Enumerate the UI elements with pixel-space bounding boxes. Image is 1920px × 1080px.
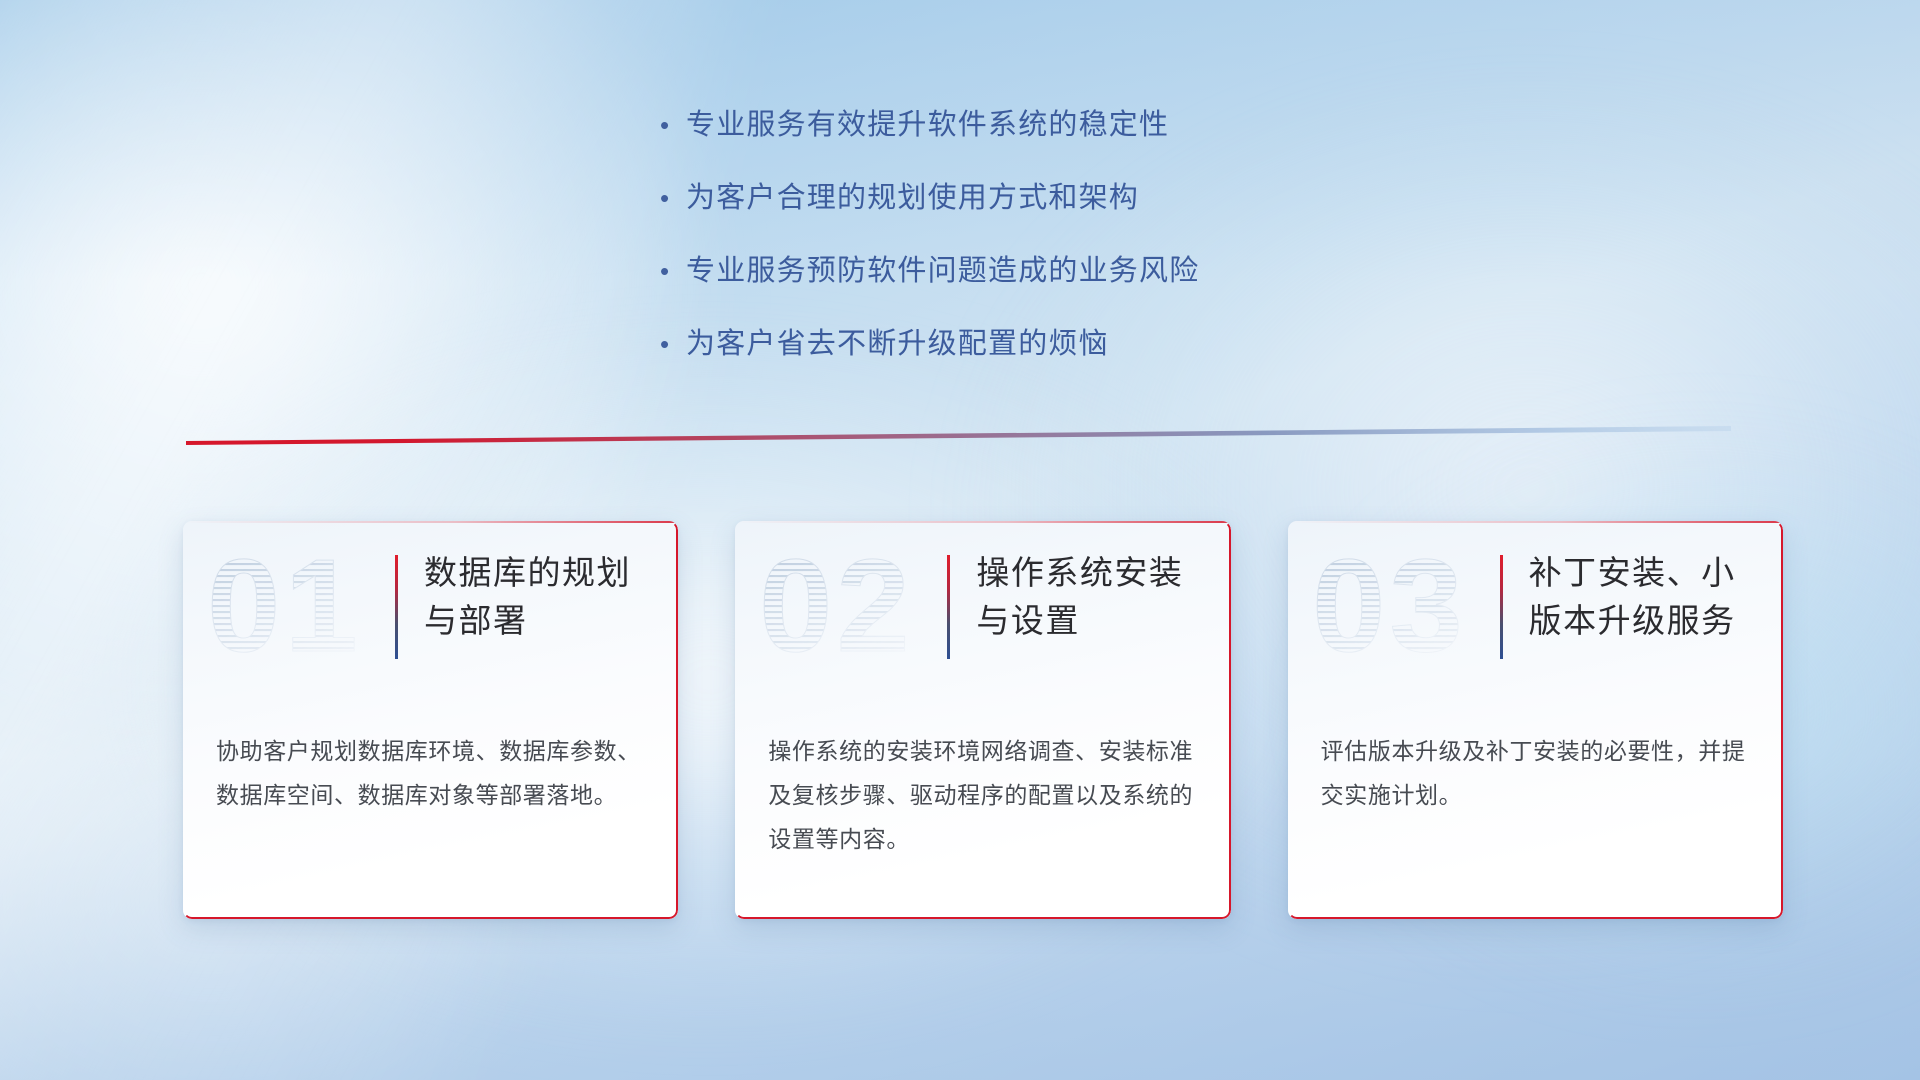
card-title-accent-bar [1500, 555, 1503, 659]
benefits-bullet-list: • 专业服务有效提升软件系统的稳定性 • 为客户合理的规划使用方式和架构 • 专… [660, 108, 1420, 400]
card-title-block: 操作系统安装 与设置 [947, 549, 1214, 659]
card-title-line-1: 操作系统安装 [976, 549, 1183, 597]
slide-canvas: • 专业服务有效提升软件系统的稳定性 • 为客户合理的规划使用方式和架构 • 专… [0, 0, 1920, 1080]
card-title: 补丁安装、小 版本升级服务 [1529, 549, 1736, 645]
list-item: • 为客户合理的规划使用方式和架构 [660, 181, 1420, 215]
card-description: 操作系统的安装环境网络调查、安装标准及复核步骤、驱动程序的配置以及系统的设置等内… [768, 729, 1202, 861]
card-description: 协助客户规划数据库环境、数据库参数、数据库空间、数据库对象等部署落地。 [216, 729, 650, 817]
bullet-dot-icon: • [660, 108, 686, 142]
svg-text:01: 01 [207, 539, 362, 675]
list-item: • 为客户省去不断升级配置的烦恼 [660, 327, 1420, 361]
bullet-dot-icon: • [660, 254, 686, 288]
card-title: 操作系统安装 与设置 [976, 549, 1183, 645]
list-item: • 专业服务预防软件问题造成的业务风险 [660, 254, 1420, 288]
bullet-text: 为客户合理的规划使用方式和架构 [686, 181, 1139, 215]
bullet-text: 专业服务预防软件问题造成的业务风险 [686, 254, 1199, 288]
card-title-line-2: 与部署 [424, 597, 631, 645]
svg-text:03: 03 [1312, 539, 1467, 675]
card-title-block: 数据库的规划 与部署 [395, 549, 662, 659]
card-title-line-2: 与设置 [976, 597, 1183, 645]
card-header: 02 02 操作系统安装 与设置 [735, 521, 1230, 707]
bullet-dot-icon: • [660, 181, 686, 215]
card-title-line-1: 数据库的规划 [424, 549, 631, 597]
service-card[interactable]: 02 02 操作系统安装 与设置 操作系统的安装环境网络调查、安装标准及复核步骤… [735, 521, 1230, 919]
section-divider [186, 424, 1731, 450]
card-number-watermark: 03 03 [1310, 539, 1500, 675]
card-title-accent-bar [395, 555, 398, 659]
card-header: 01 01 数据库的规划 与部署 [183, 521, 678, 707]
service-card[interactable]: 01 01 数据库的规划 与部署 协助客户规划数据库环境、数据库参数、数据库空间… [183, 521, 678, 919]
bullet-text: 专业服务有效提升软件系统的稳定性 [686, 108, 1169, 142]
svg-text:02: 02 [759, 539, 914, 675]
card-title-line-2: 版本升级服务 [1529, 597, 1736, 645]
bullet-text: 为客户省去不断升级配置的烦恼 [686, 327, 1109, 361]
service-card-list: 01 01 数据库的规划 与部署 协助客户规划数据库环境、数据库参数、数据库空间… [183, 521, 1783, 919]
card-number-watermark: 01 01 [205, 539, 395, 675]
service-card[interactable]: 03 03 补丁安装、小 版本升级服务 评估版本升级及补丁安装的必要性，并提交实… [1288, 521, 1783, 919]
card-title-accent-bar [947, 555, 950, 659]
card-title: 数据库的规划 与部署 [424, 549, 631, 645]
card-title-block: 补丁安装、小 版本升级服务 [1500, 549, 1767, 659]
card-number-watermark: 02 02 [757, 539, 947, 675]
card-title-line-1: 补丁安装、小 [1529, 549, 1736, 597]
list-item: • 专业服务有效提升软件系统的稳定性 [660, 108, 1420, 142]
card-description: 评估版本升级及补丁安装的必要性，并提交实施计划。 [1321, 729, 1755, 817]
bullet-dot-icon: • [660, 327, 686, 361]
card-header: 03 03 补丁安装、小 版本升级服务 [1288, 521, 1783, 707]
